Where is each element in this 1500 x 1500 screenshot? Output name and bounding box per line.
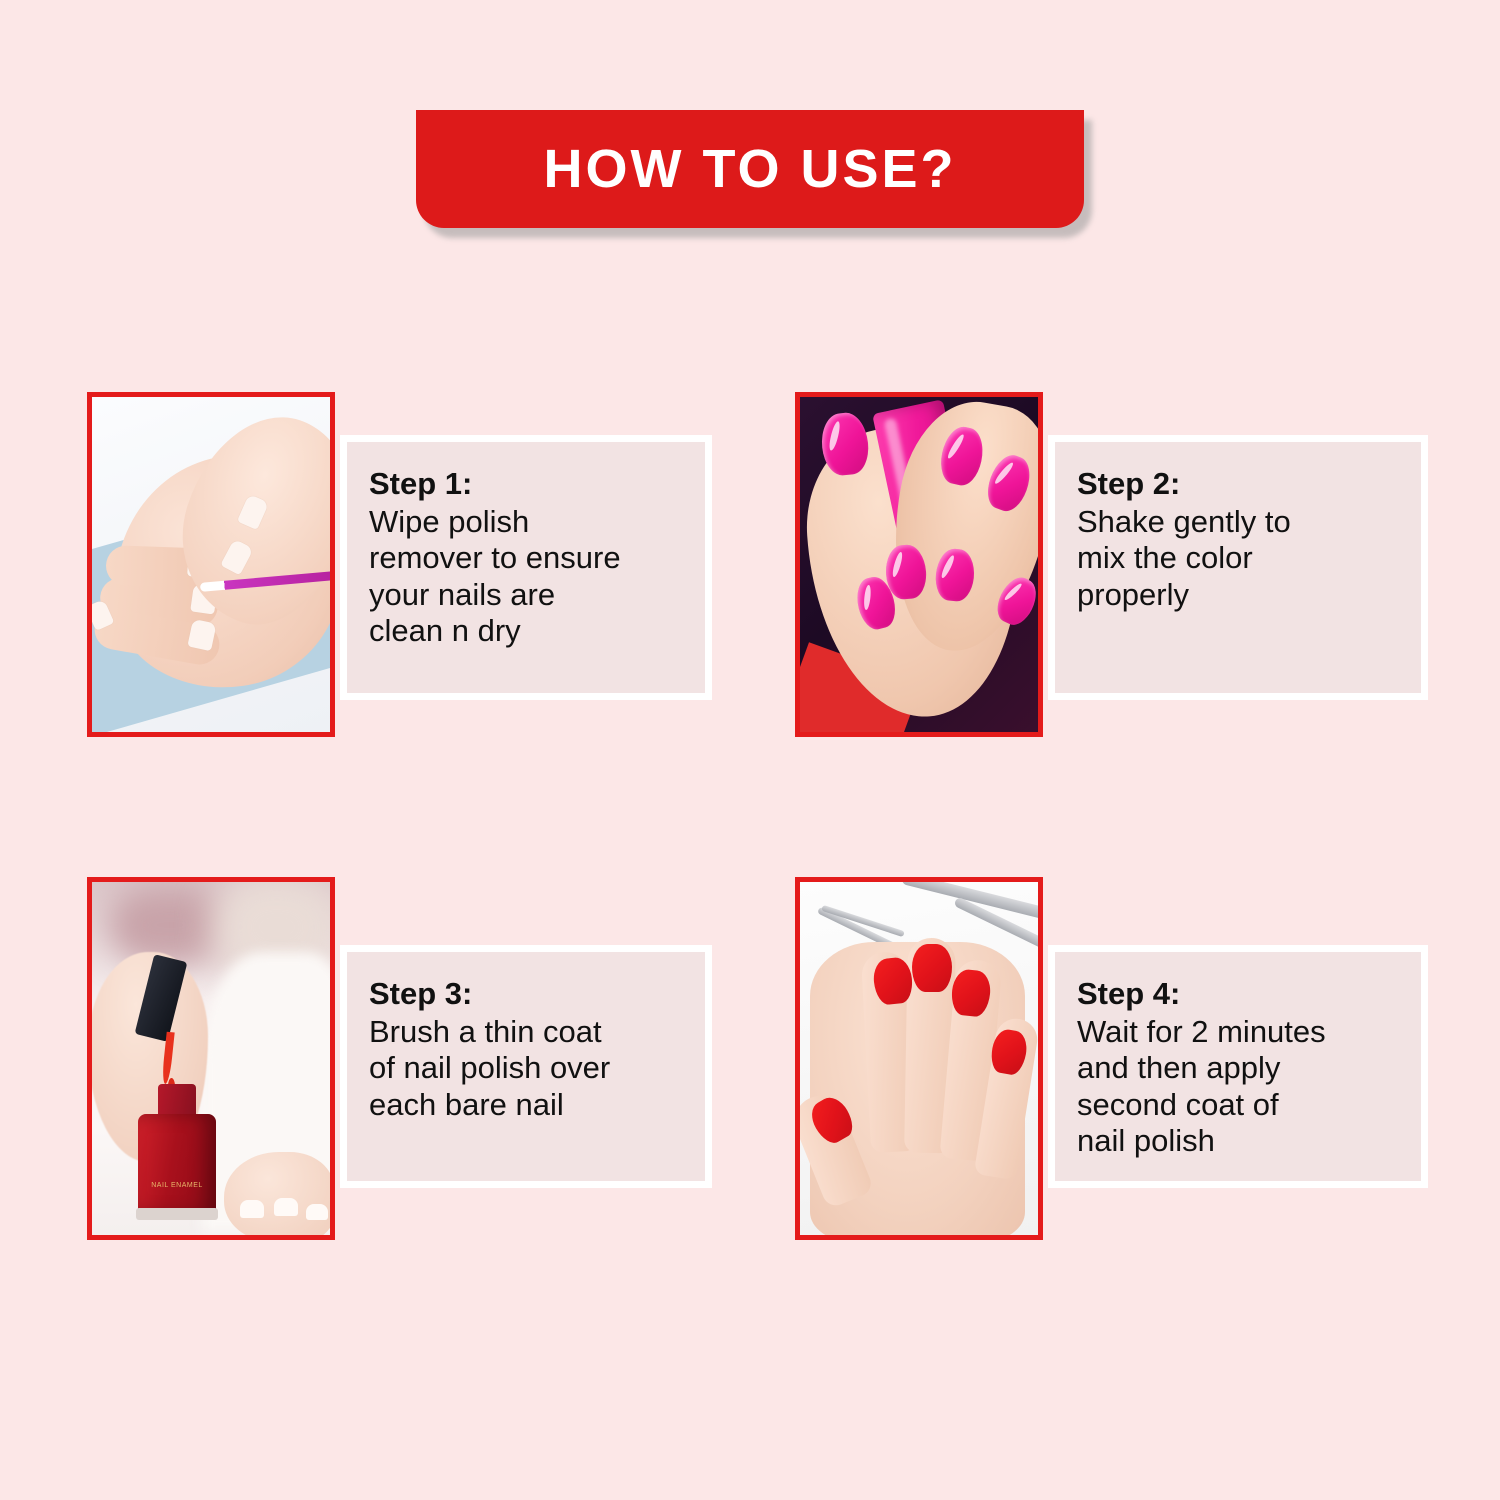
- step-1-photo: [92, 397, 330, 732]
- step-4-body: Wait for 2 minutes and then apply second…: [1077, 1014, 1403, 1160]
- step-1-label: Step 1:: [369, 466, 687, 503]
- step-3-photo: NAIL ENAMEL: [92, 882, 330, 1235]
- step-1-body: Wipe polish remover to ensure your nails…: [369, 504, 687, 650]
- step-2-photo-frame: [795, 392, 1043, 737]
- page-title: HOW TO USE?: [543, 142, 956, 196]
- banner-body: HOW TO USE?: [416, 110, 1084, 228]
- step-2-label: Step 2:: [1077, 466, 1403, 503]
- step-3-text-panel: Step 3: Brush a thin coat of nail polish…: [340, 945, 712, 1188]
- step-2-body: Shake gently to mix the color properly: [1077, 504, 1403, 614]
- step-3-body: Brush a thin coat of nail polish over ea…: [369, 1014, 687, 1124]
- header-banner: HOW TO USE?: [416, 110, 1084, 228]
- step-2-photo: [800, 397, 1038, 732]
- step-4-photo: [800, 882, 1038, 1235]
- step-4-text-panel: Step 4: Wait for 2 minutes and then appl…: [1048, 945, 1428, 1188]
- step-3-label: Step 3:: [369, 976, 687, 1013]
- step-4-label: Step 4:: [1077, 976, 1403, 1013]
- step-4-photo-frame: [795, 877, 1043, 1240]
- step-2-text-panel: Step 2: Shake gently to mix the color pr…: [1048, 435, 1428, 700]
- step-1-photo-frame: [87, 392, 335, 737]
- step-3-photo-frame: NAIL ENAMEL: [87, 877, 335, 1240]
- bottle-label: NAIL ENAMEL: [148, 1182, 206, 1189]
- step-1-text-panel: Step 1: Wipe polish remover to ensure yo…: [340, 435, 712, 700]
